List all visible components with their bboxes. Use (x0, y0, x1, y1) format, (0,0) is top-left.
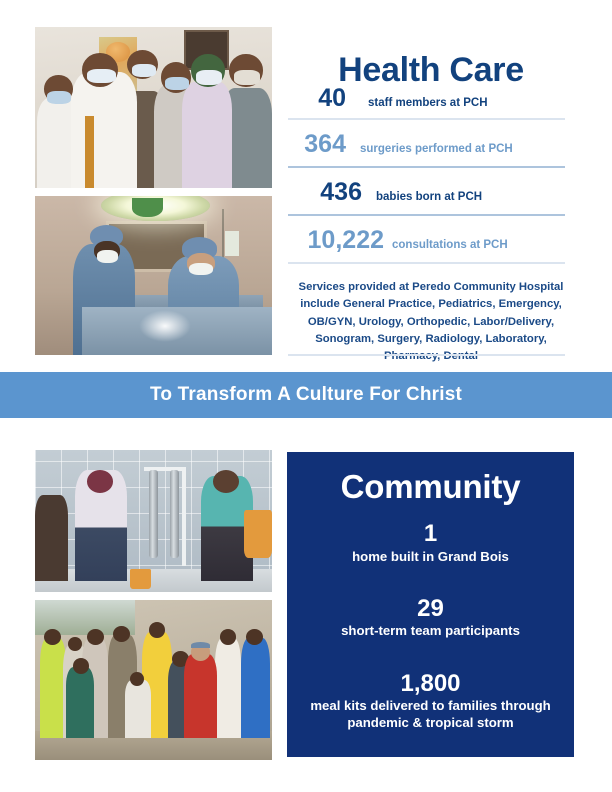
stat-row-consultations: 10,222 consultations at PCH (288, 228, 574, 253)
community-number-meals: 1,800 (287, 670, 574, 698)
stat-divider (288, 118, 565, 120)
stat-row-staff: 40 staff members at PCH (288, 86, 574, 111)
surgery-operating-room-photo (35, 196, 272, 355)
water-filtration-room-photo (35, 450, 272, 592)
community-stat-home: 1 home built in Grand Bois (287, 520, 574, 565)
tagline-banner: To Transform A Culture For Christ (0, 372, 612, 418)
stat-label-babies: babies born at PCH (376, 191, 482, 205)
community-stat-team: 29 short-term team participants (287, 595, 574, 640)
community-title: Community (287, 468, 574, 506)
hospital-staff-group-photo (35, 27, 272, 188)
community-stat-meals: 1,800 meal kits delivered to families th… (287, 670, 574, 732)
stat-number-surgeries: 364 (288, 132, 346, 157)
stat-label-surgeries: surgeries performed at PCH (360, 143, 513, 157)
community-number-team: 29 (287, 595, 574, 623)
community-label-meals: meal kits delivered to families through … (287, 697, 574, 731)
stat-row-babies: 436 babies born at PCH (288, 180, 574, 205)
stat-row-surgeries: 364 surgeries performed at PCH (288, 132, 574, 157)
services-divider (288, 354, 565, 356)
health-care-section: Health Care 40 staff members at PCH 364 … (0, 0, 612, 372)
stat-number-consultations: 10,222 (288, 228, 384, 253)
community-children-group-photo (35, 600, 272, 760)
stat-label-consultations: consultations at PCH (392, 239, 508, 253)
community-stats-panel: Community 1 home built in Grand Bois 29 … (287, 452, 574, 757)
stat-number-staff: 40 (288, 86, 346, 111)
stat-label-staff: staff members at PCH (368, 97, 488, 111)
stat-number-babies: 436 (288, 180, 362, 205)
community-number-home: 1 (287, 520, 574, 548)
tagline-text: To Transform A Culture For Christ (150, 384, 462, 406)
services-description: Services provided at Peredo Community Ho… (288, 279, 574, 365)
community-label-home: home built in Grand Bois (287, 548, 574, 565)
community-label-team: short-term team participants (287, 622, 574, 639)
stat-divider (288, 166, 565, 168)
stat-divider (288, 214, 565, 216)
stat-divider (288, 262, 565, 264)
